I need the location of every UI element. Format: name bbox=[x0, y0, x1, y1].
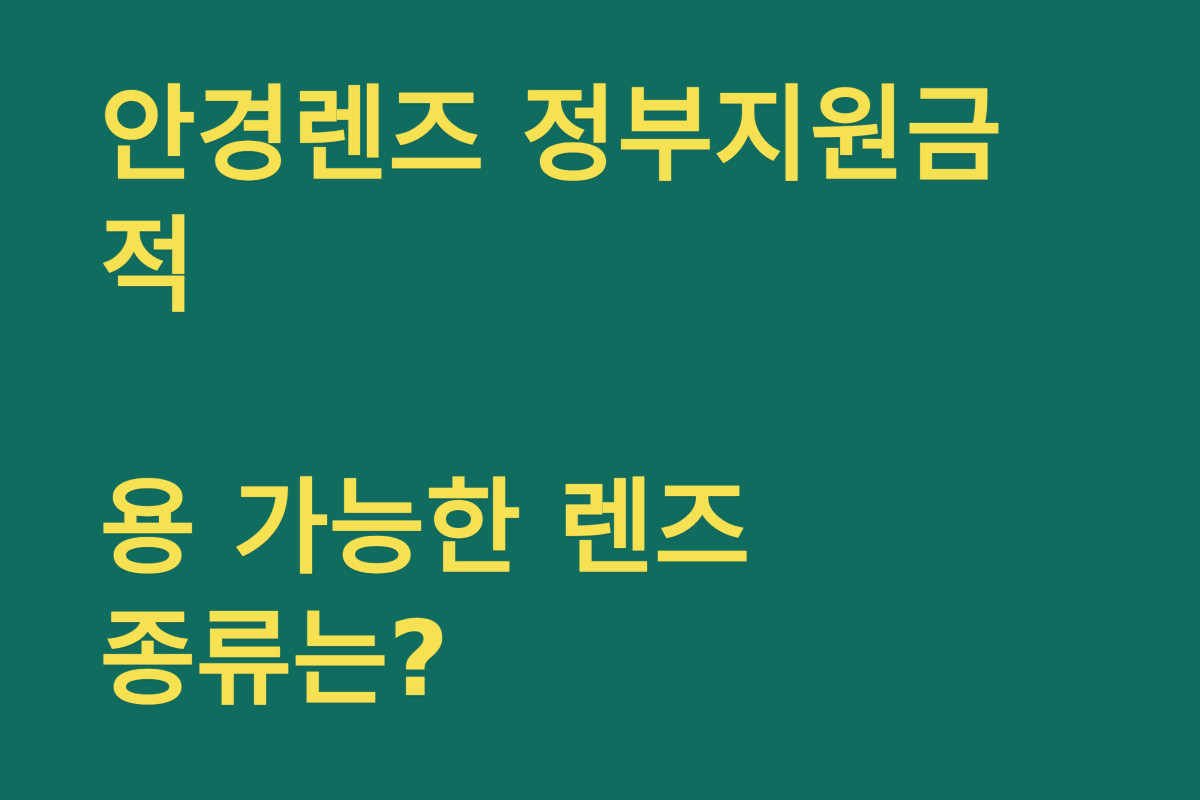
headline-line-2: 용 가능한 렌즈 종류는? bbox=[100, 463, 1106, 725]
headline-text: 안경렌즈 정부지원금 적 용 가능한 렌즈 종류는? bbox=[100, 0, 1106, 800]
headline-block: 안경렌즈 정부지원금 적 용 가능한 렌즈 종류는? bbox=[0, 0, 1200, 800]
thumbnail-canvas: 안경렌즈 정부지원금 적 용 가능한 렌즈 종류는? bbox=[0, 0, 1200, 800]
headline-line-1: 안경렌즈 정부지원금 적 bbox=[100, 70, 1106, 332]
